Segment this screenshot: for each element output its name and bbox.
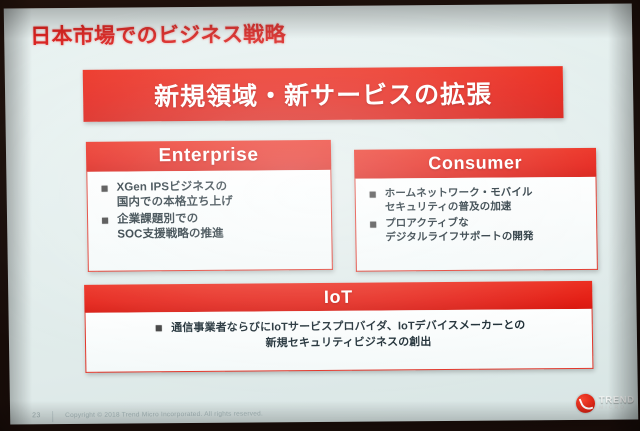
- card-iot-title: IoT: [324, 286, 353, 307]
- list-item-text: 通信事業者ならびにIoTサービスプロバイダ、IoTデバイスメーカーとの新規セキュ…: [171, 317, 526, 352]
- page-number: 23: [32, 412, 41, 419]
- headline-banner-text: 新規領域・新サービスの拡張: [154, 75, 493, 114]
- list-item-text: XGen IPSビジネスの国内での本格立ち上げ: [116, 180, 232, 211]
- card-consumer-body: ホームネットワーク・モバイルセキュリティの普及の加速 プロアクティブなデジタルラ…: [354, 177, 597, 272]
- card-enterprise: Enterprise XGen IPSビジネスの国内での本格立ち上げ 企業課題別…: [86, 140, 333, 272]
- list-item-text: 企業課題別でのSOC支援戦略の推進: [117, 212, 224, 243]
- bullet-square-icon: [156, 325, 162, 331]
- bullet-square-icon: [370, 222, 376, 228]
- logo-secondary-text: MICRO: [599, 406, 635, 411]
- card-iot-body: 通信事業者ならびにIoTサービスプロバイダ、IoTデバイスメーカーとの新規セキュ…: [85, 309, 594, 373]
- projection-screen: 日本市場でのビジネス戦略 新規領域・新サービスの拡張 Enterprise XG…: [4, 4, 639, 425]
- list-item: プロアクティブなデジタルライフサポートの開発: [366, 215, 590, 245]
- list-item: 企業課題別でのSOC支援戦略の推進: [98, 211, 323, 243]
- list-item-text: プロアクティブなデジタルライフサポートの開発: [385, 215, 534, 244]
- bullet-square-icon: [370, 192, 376, 198]
- list-item: ホームネットワーク・モバイルセキュリティの普及の加速: [366, 185, 590, 215]
- trend-micro-wordmark: TREND MICRO: [599, 395, 635, 411]
- list-item: XGen IPSビジネスの国内での本格立ち上げ: [97, 179, 322, 211]
- card-enterprise-header: Enterprise: [86, 140, 331, 172]
- page-title: 日本市場でのビジネス戦略: [30, 18, 286, 50]
- card-iot-header: IoT: [84, 281, 592, 313]
- headline-banner: 新規領域・新サービスの拡張: [83, 66, 564, 122]
- footer-divider: [52, 411, 53, 422]
- card-consumer-header: Consumer: [354, 148, 596, 179]
- slide-canvas: 日本市場でのビジネス戦略 新規領域・新サービスの拡張 Enterprise XG…: [4, 4, 639, 425]
- bullet-square-icon: [102, 218, 108, 224]
- card-enterprise-title: Enterprise: [158, 144, 258, 167]
- logo-primary-text: TREND: [599, 395, 635, 405]
- projected-slide-photo: 日本市場でのビジネス戦略 新規領域・新サービスの拡張 Enterprise XG…: [0, 0, 640, 431]
- card-consumer: Consumer ホームネットワーク・モバイルセキュリティの普及の加速 プロアク…: [354, 148, 598, 272]
- trend-micro-mark-icon: [576, 394, 595, 413]
- bullet-square-icon: [102, 186, 108, 192]
- card-enterprise-body: XGen IPSビジネスの国内での本格立ち上げ 企業課題別でのSOC支援戦略の推…: [86, 170, 333, 272]
- list-item: 通信事業者ならびにIoTサービスプロバイダ、IoTデバイスメーカーとの新規セキュ…: [96, 317, 583, 353]
- list-item-text: ホームネットワーク・モバイルセキュリティの普及の加速: [385, 185, 533, 214]
- card-iot: IoT 通信事業者ならびにIoTサービスプロバイダ、IoTデバイスメーカーとの新…: [84, 281, 593, 373]
- copyright-notice: Copyright © 2018 Trend Micro Incorporate…: [65, 410, 263, 419]
- trend-micro-logo: TREND MICRO: [576, 394, 635, 413]
- card-consumer-title: Consumer: [428, 152, 522, 174]
